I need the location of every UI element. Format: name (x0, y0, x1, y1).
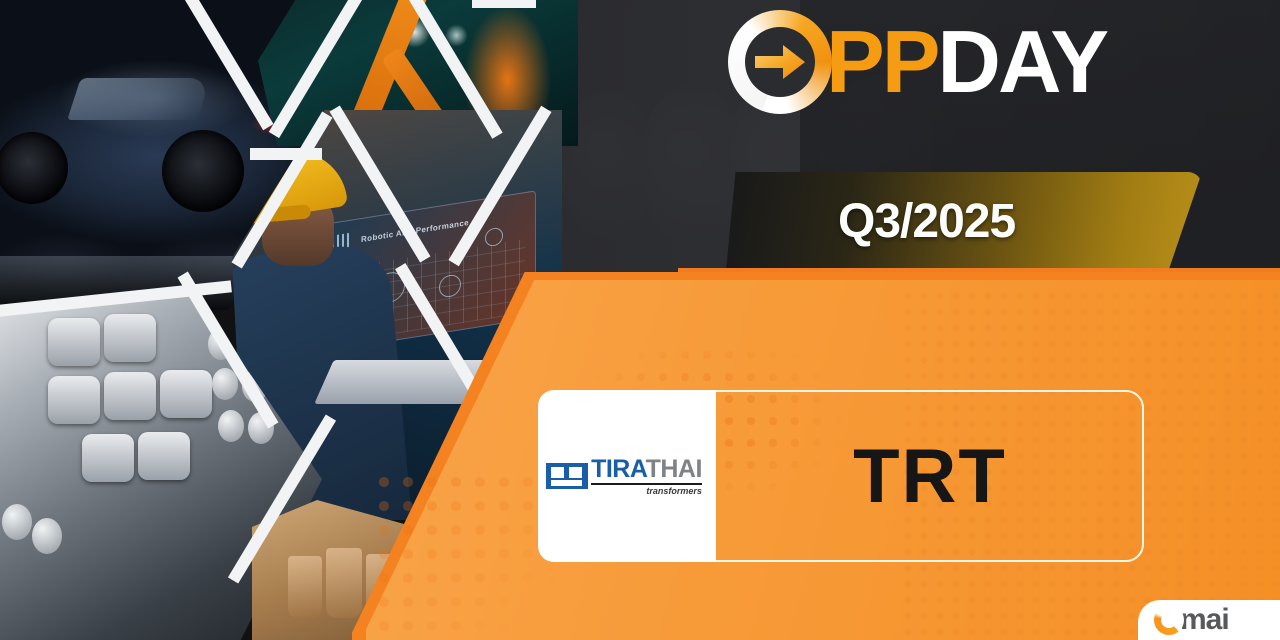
company-logo-card: TIRATHAI transformers GROUP (538, 390, 710, 562)
oppday-wordmark: PPDAY (826, 18, 1106, 106)
oppday-day-text: DAY (937, 12, 1106, 111)
mai-swoosh-icon (1154, 605, 1184, 635)
mosaic-divider (250, 148, 322, 160)
tirathai-rule (591, 483, 702, 485)
quarter-banner: Q3/2025 (726, 172, 1202, 270)
ticker-symbol: TRT (853, 433, 1007, 520)
oppday-pp-text: PP (826, 12, 937, 111)
quarter-label: Q3/2025 (838, 194, 1015, 249)
oppday-logo: PPDAY (728, 10, 1106, 114)
ticker-symbol-block: TRT (716, 390, 1144, 562)
tirathai-word-secondary: THAI (646, 455, 702, 483)
tirathai-wordmark: TIRATHAI transformers GROUP (591, 457, 702, 496)
arrow-right-circle-icon (728, 10, 832, 114)
tirathai-word-primary: TIRA (591, 455, 645, 483)
mai-label: mai (1180, 603, 1229, 637)
tirathai-tagline: transformers (591, 486, 702, 496)
tirathai-mark-icon (546, 463, 588, 489)
arrow-right-icon (753, 42, 807, 82)
company-logo-card-extension (706, 390, 716, 562)
oppday-title-slide: Robotic Arm Performance (0, 0, 1280, 640)
mai-logo: mai (1138, 600, 1280, 640)
tirathai-group-logo: TIRATHAI transformers GROUP (546, 457, 702, 496)
mosaic-divider (472, 0, 536, 8)
